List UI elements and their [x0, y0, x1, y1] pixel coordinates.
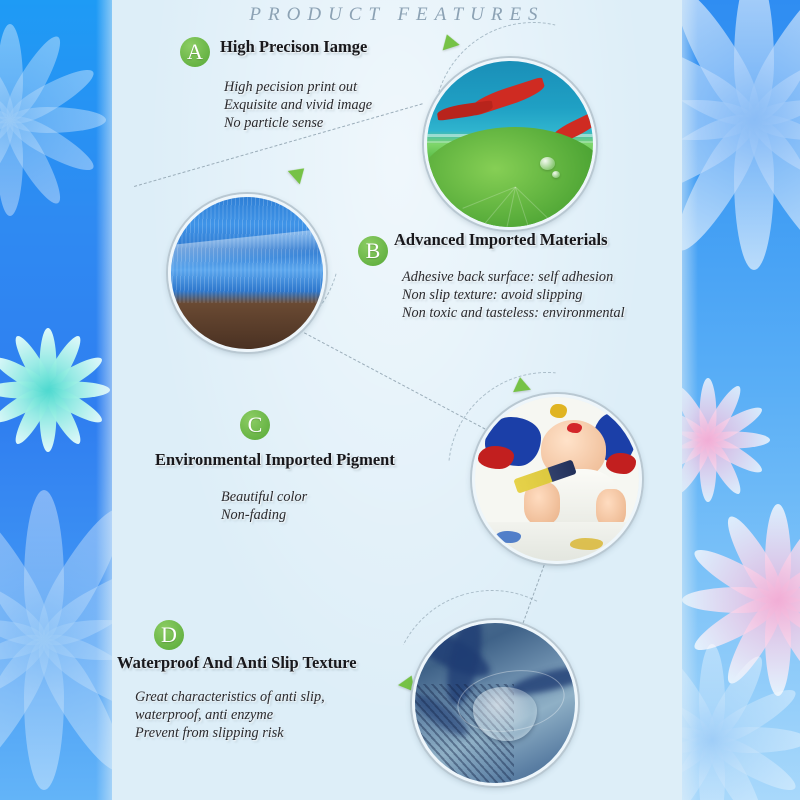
feature-line: Beautiful color — [221, 488, 307, 506]
baby-painting-photo — [475, 397, 639, 561]
green-triangle-arrow-c — [511, 376, 531, 392]
feature-heading-b: Advanced Imported Materials — [394, 230, 608, 250]
feature-badge-c: C — [240, 410, 270, 440]
lily-pad — [424, 127, 596, 230]
product-features-poster: PRODUCT FEATURES — [0, 0, 800, 800]
feature-line: Exquisite and vivid image — [224, 96, 372, 114]
feature-image-a — [424, 58, 596, 230]
feature-image-b — [168, 194, 326, 352]
feature-body-a: High pecision print out Exquisite and vi… — [224, 78, 372, 132]
feature-body-b: Adhesive back surface: self adhesion Non… — [402, 268, 625, 322]
feature-line: No particle sense — [224, 114, 372, 132]
feature-heading-c: Environmental Imported Pigment — [155, 450, 395, 470]
feature-image-d — [412, 620, 578, 786]
feature-badge-a: A — [180, 37, 210, 67]
page-title: PRODUCT FEATURES — [112, 4, 682, 26]
feature-body-c: Beautiful color Non-fading — [221, 488, 307, 524]
waterproof-droplet-texture-photo — [415, 623, 575, 783]
feature-line: Non toxic and tasteless: environmental — [402, 304, 625, 322]
feature-image-c — [472, 394, 642, 564]
feature-badge-d: D — [154, 620, 184, 650]
feature-line: Prevent from slipping risk — [135, 724, 325, 742]
feature-heading-a: High Precison Iamge — [220, 37, 367, 57]
feature-badge-b: B — [358, 236, 388, 266]
feature-line: Adhesive back surface: self adhesion — [402, 268, 625, 286]
feature-line: Great characteristics of anti slip, — [135, 688, 325, 706]
feature-line: Non-fading — [221, 506, 307, 524]
feature-line: Non slip texture: avoid slipping — [402, 286, 625, 304]
blue-fabric-texture-photo — [171, 197, 323, 349]
left-decorative-band — [0, 0, 112, 800]
koi-fish-lily-pad-photo — [427, 61, 593, 227]
feature-line: High pecision print out — [224, 78, 372, 96]
feature-heading-d: Waterproof And Anti Slip Texture — [117, 653, 357, 673]
feature-line: waterproof, anti enzyme — [135, 706, 325, 724]
content-panel: PRODUCT FEATURES — [112, 0, 682, 800]
feature-body-d: Great characteristics of anti slip, wate… — [135, 688, 325, 742]
right-decorative-band — [682, 0, 800, 800]
